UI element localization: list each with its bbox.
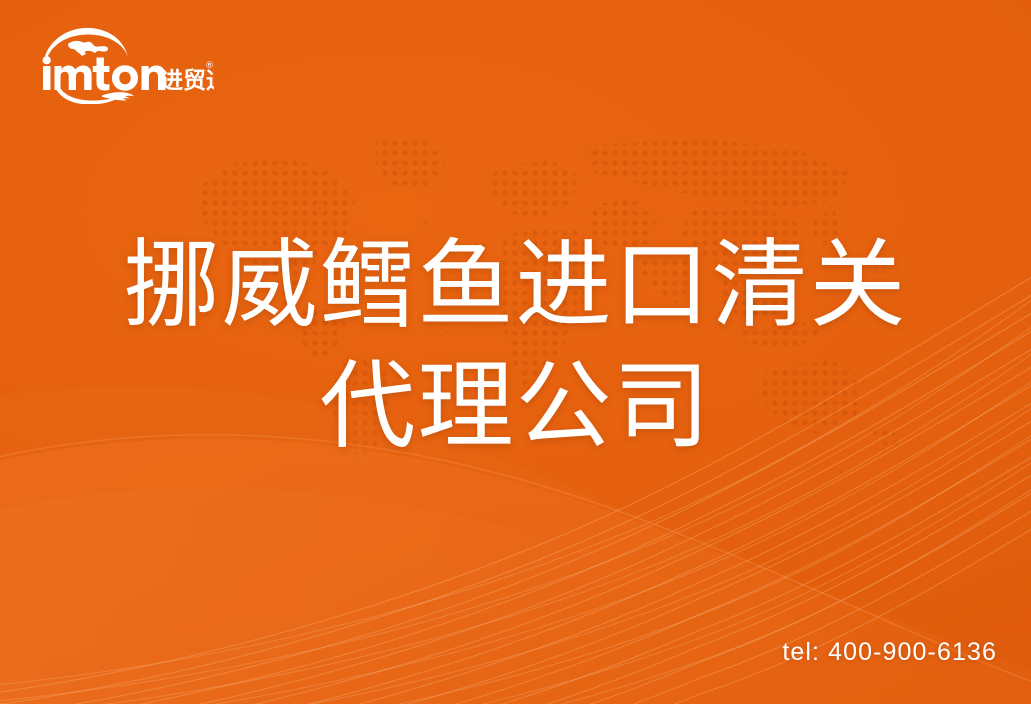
imton-logo[interactable]: 进贸通 ® [38, 26, 214, 104]
contact-phone[interactable]: tel: 400-900-6136 [782, 638, 997, 667]
promo-banner: 进贸通 ® 挪威鳕鱼进口清关 代理公司 tel: 400-900-6136 [0, 0, 1031, 704]
logo-wordmark [43, 56, 166, 91]
wave-decoration [0, 0, 1031, 704]
registered-trademark-icon: ® [205, 61, 214, 71]
logo-chinese-text: 进贸通 [160, 68, 214, 94]
swoosh-arrow-icon [56, 89, 134, 105]
globe-icon [45, 28, 128, 57]
